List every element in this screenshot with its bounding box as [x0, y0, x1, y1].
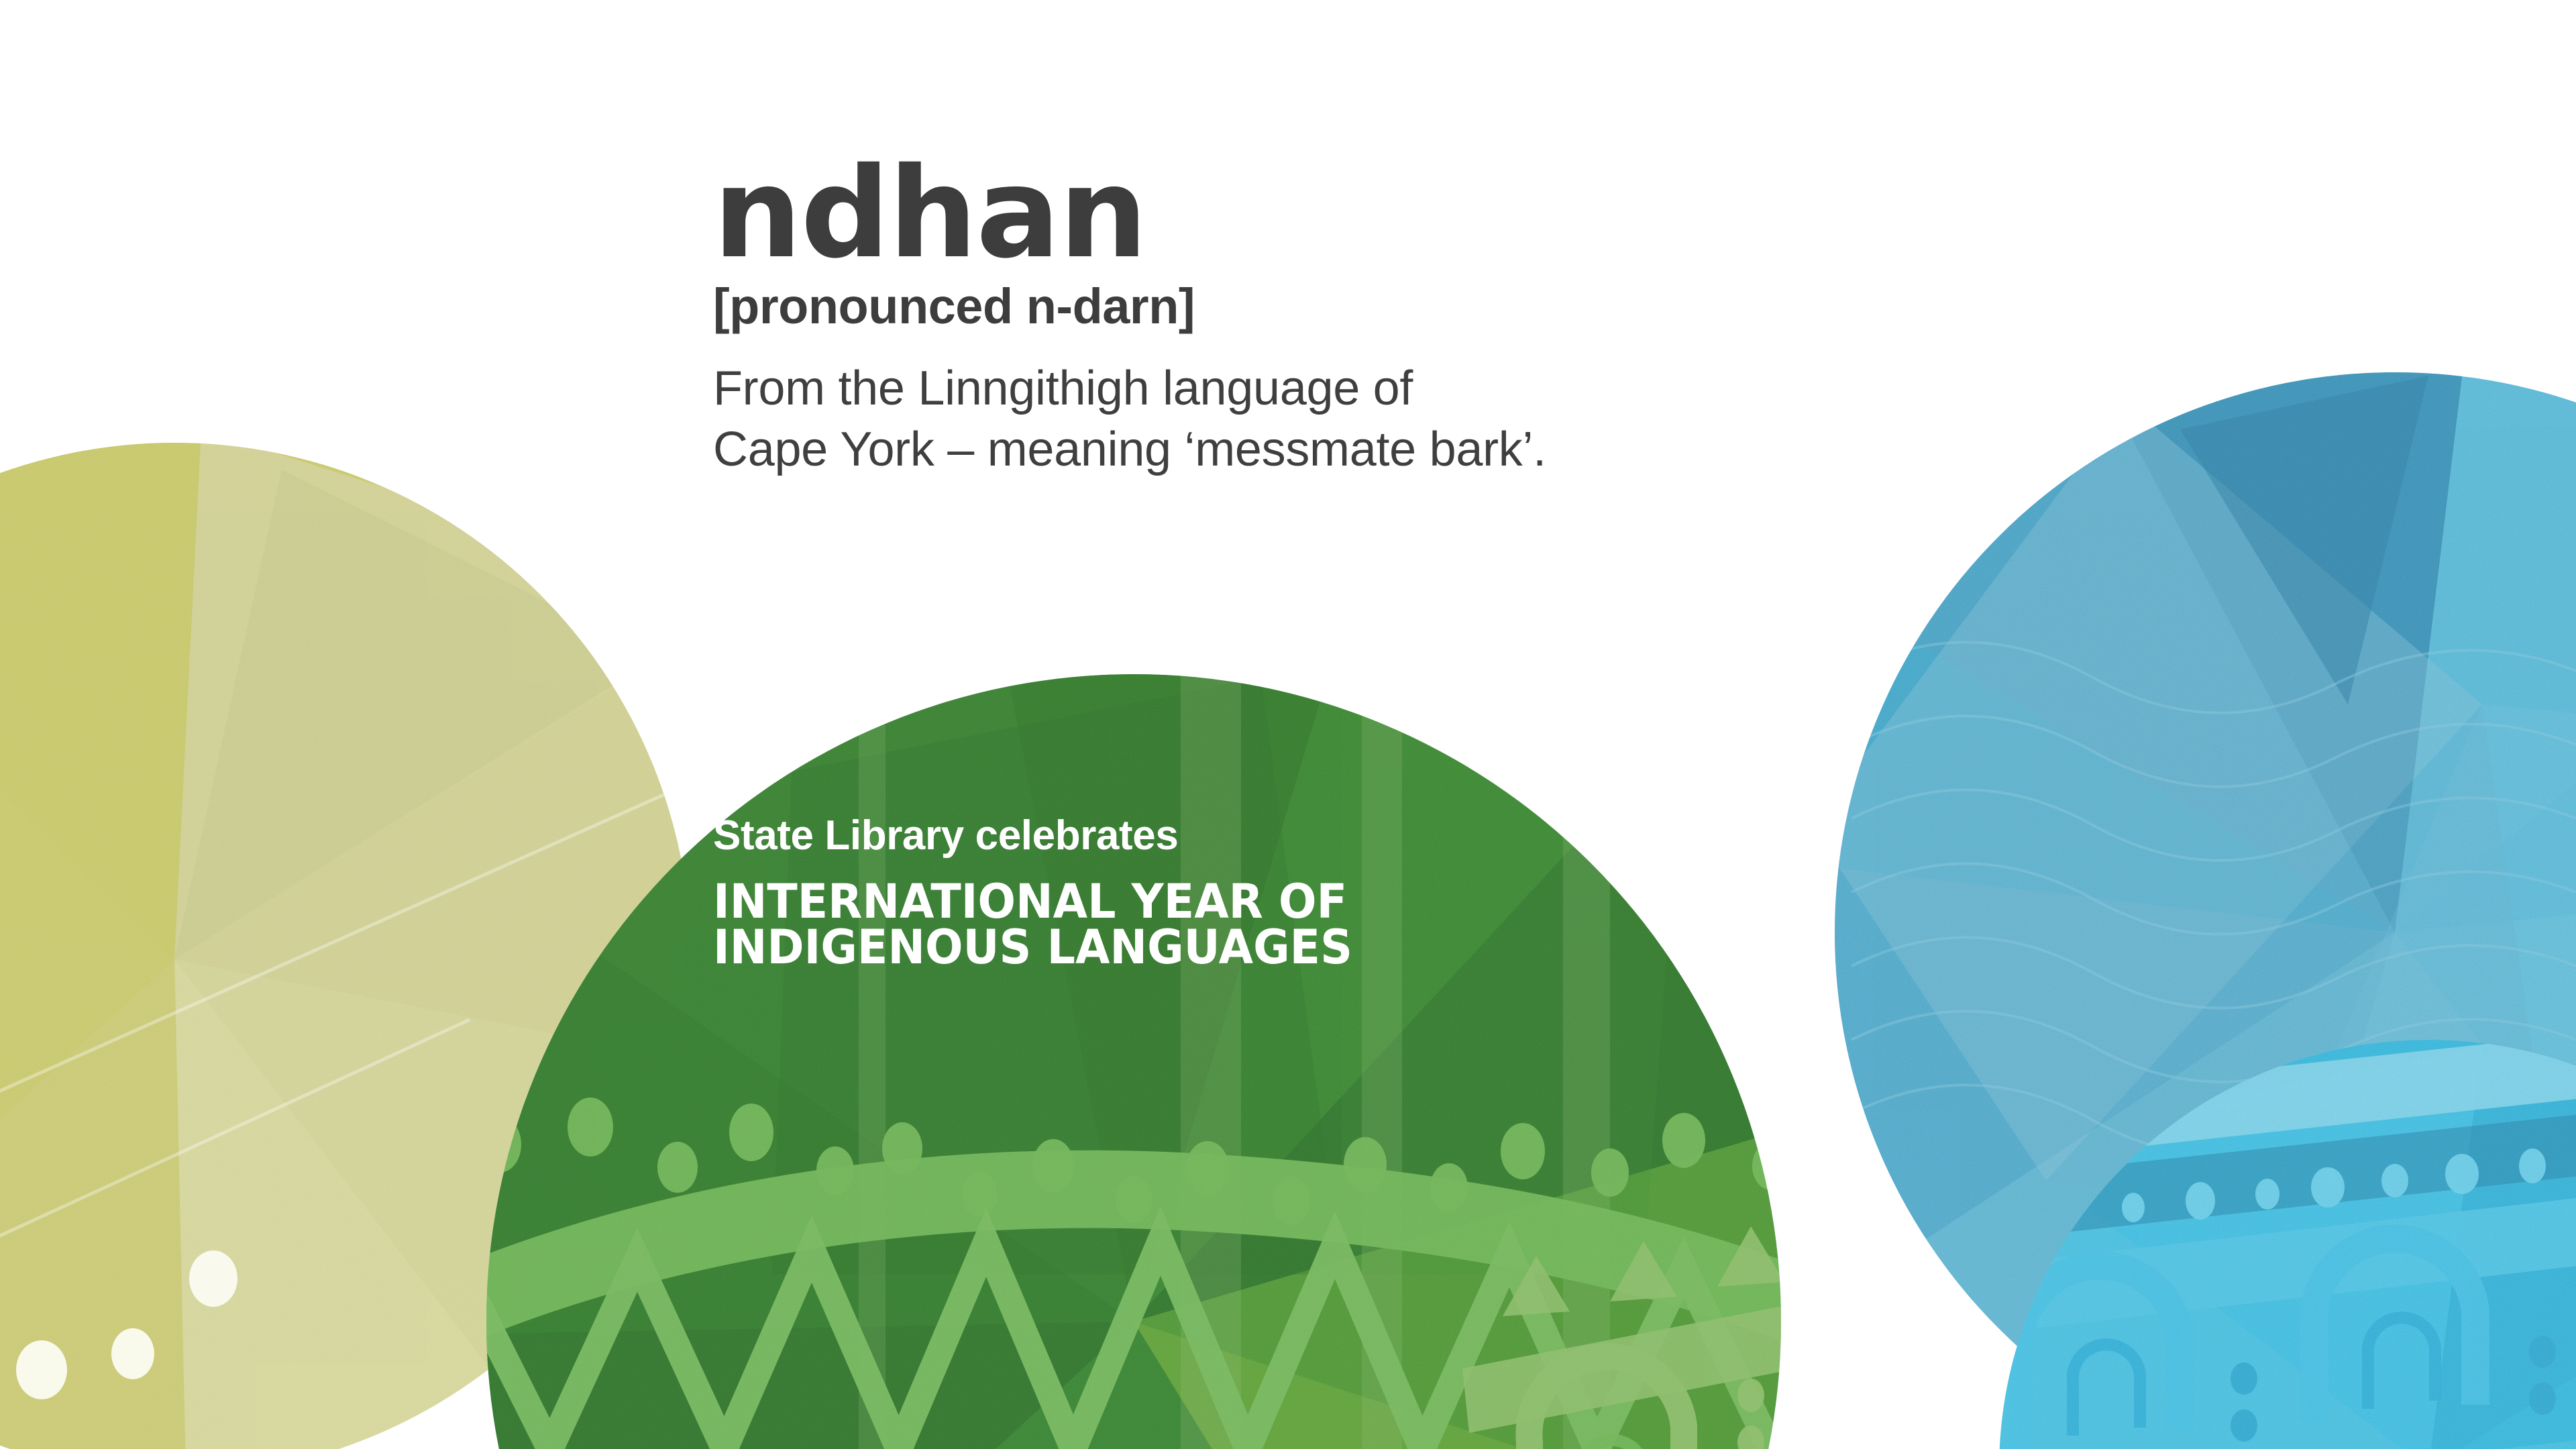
iyil-title-line-2: INDIGENOUS LANGUAGES: [713, 925, 1352, 971]
gloss-line-1: From the Linngithigh language of: [713, 358, 1921, 419]
state-library-celebrates-text: State Library celebrates: [713, 815, 1386, 857]
iyil-title-line-1: INTERNATIONAL YEAR OF: [713, 879, 1352, 925]
gloss-line-2: Cape York – meaning ‘messmate bark’.: [713, 419, 1921, 480]
gloss-text: From the Linngithigh language of Cape Yo…: [713, 358, 1921, 480]
poster-canvas: ndhan [pronounced n-darn] From the Linng…: [0, 0, 2576, 1449]
page-title: ndhan: [713, 156, 1921, 270]
definition-block: ndhan [pronounced n-darn] From the Linng…: [713, 156, 1921, 480]
pronunciation-text: [pronounced n-darn]: [713, 277, 1921, 335]
iyil-title: INTERNATIONAL YEAR OF INDIGENOUS LANGUAG…: [713, 879, 1386, 971]
iyil-logo-lockup: State Library celebrates INTERNATIONAL Y…: [713, 815, 1386, 971]
